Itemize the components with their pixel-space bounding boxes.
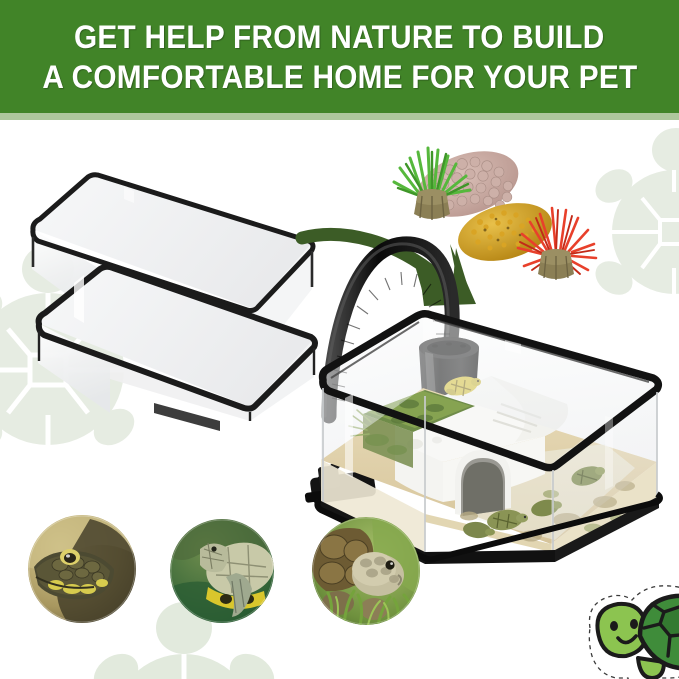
photo-turtle-swimming [170,519,274,623]
header-banner: GET HELP FROM NATURE TO BUILD A COMFORTA… [0,0,679,113]
photo-turtle-closeup-head [28,515,136,623]
infographic-canvas: GET HELP FROM NATURE TO BUILD A COMFORTA… [0,0,679,679]
assembled-turtle-habitat [305,228,675,563]
banner-underline [0,113,679,120]
banner-line-1: GET HELP FROM NATURE TO BUILD [74,17,605,57]
cartoon-turtle-sticker [560,570,679,679]
photo-tortoise-in-grass [312,517,420,625]
banner-line-2: A COMFORTABLE HOME FOR YOUR PET [42,57,637,97]
empty-glass-tank [14,163,326,425]
